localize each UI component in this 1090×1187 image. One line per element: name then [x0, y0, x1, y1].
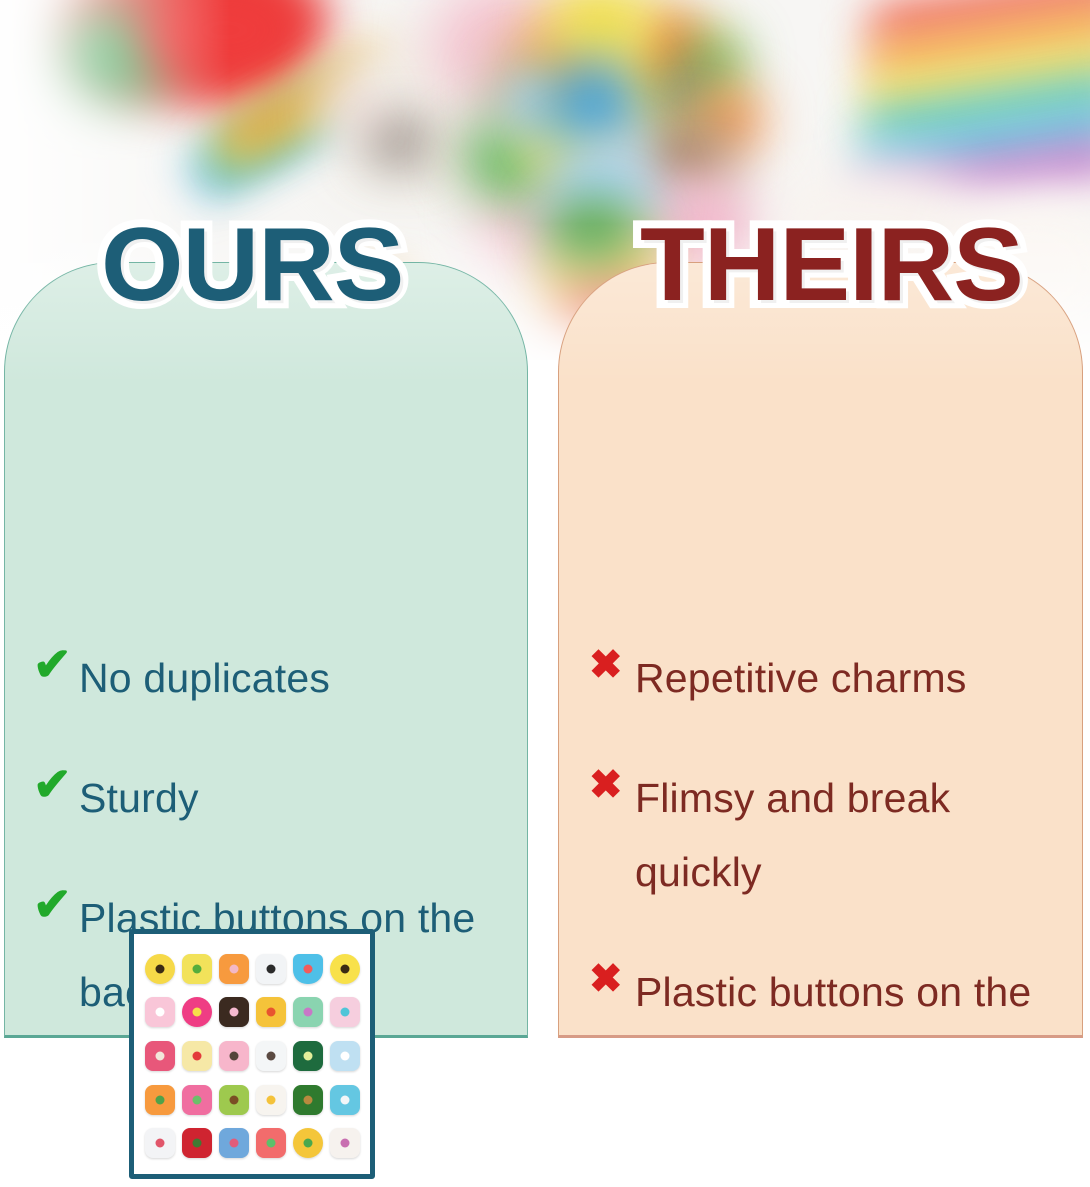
charm-grid: [142, 948, 362, 1164]
check-icon: ✔: [33, 641, 79, 687]
blue-cloud-charm: [327, 1035, 362, 1077]
cloud-face-charm: [253, 1035, 288, 1077]
candy-bunch-charm: [253, 992, 288, 1034]
avocado-face-charm: [290, 1079, 325, 1121]
ours-title: OURS: [101, 213, 403, 317]
sun-flower-face-charm: [290, 1122, 325, 1164]
cross-icon: ✖: [589, 955, 635, 999]
sprinkle-cupcake-charm: [216, 992, 251, 1034]
list-item-label: Repetitive charms: [635, 641, 1085, 715]
list-item-label: Flimsy and break quickly: [635, 761, 1085, 909]
pink-daisy-charm: [179, 992, 214, 1034]
check-icon: ✔: [33, 761, 79, 807]
theirs-title: THEIRS: [640, 213, 1023, 317]
ice-cream-charm: [179, 1079, 214, 1121]
fried-egg-charm: [253, 1079, 288, 1121]
octopus-charm: [216, 1035, 251, 1077]
cherry-cupcake-charm: [179, 1035, 214, 1077]
list-item: ✖ Flimsy and break quickly: [589, 761, 1085, 909]
astronaut-charm: [253, 948, 288, 990]
cross-icon: ✖: [589, 761, 635, 805]
list-item: ✔ Sturdy: [33, 761, 499, 835]
water-bottle-charm: [327, 1079, 362, 1121]
list-item: ✔ No duplicates: [33, 641, 499, 715]
rainbow-cloud-charm: [290, 992, 325, 1034]
drink-cup-charm: [142, 1035, 177, 1077]
charm-collection-photo: [129, 929, 375, 1179]
ours-panel: ✔ No duplicates ✔ Sturdy ✔ Plastic butto…: [4, 262, 528, 1038]
cross-icon: ✖: [589, 641, 635, 685]
cherries-charm: [179, 1122, 214, 1164]
rainbow-heart-charm: [290, 948, 325, 990]
comparison-infographic: ✔ No duplicates ✔ Sturdy ✔ Plastic butto…: [0, 0, 1090, 1187]
rocket-charm: [142, 1122, 177, 1164]
list-item-label: No duplicates: [79, 641, 499, 715]
carrot-bunny-charm: [216, 948, 251, 990]
smiley-charm: [327, 948, 362, 990]
popsicle-charm: [327, 992, 362, 1034]
caterpillar-charm: [179, 948, 214, 990]
list-item-label: Sturdy: [79, 761, 499, 835]
unicorn-poop-charm: [327, 1122, 362, 1164]
list-item: ✖ Repetitive charms: [589, 641, 1085, 715]
theirs-panel: ✖ Repetitive charms ✖ Flimsy and break q…: [558, 262, 1083, 1038]
avocado-slice-charm: [216, 1079, 251, 1121]
unicorn-charm: [142, 992, 177, 1034]
sunflower-charm: [142, 948, 177, 990]
carrot-charm: [142, 1079, 177, 1121]
pineapple-pop-charm: [253, 1122, 288, 1164]
check-icon: ✔: [33, 881, 79, 927]
dinosaur-charm: [290, 1035, 325, 1077]
blue-angel-charm: [216, 1122, 251, 1164]
